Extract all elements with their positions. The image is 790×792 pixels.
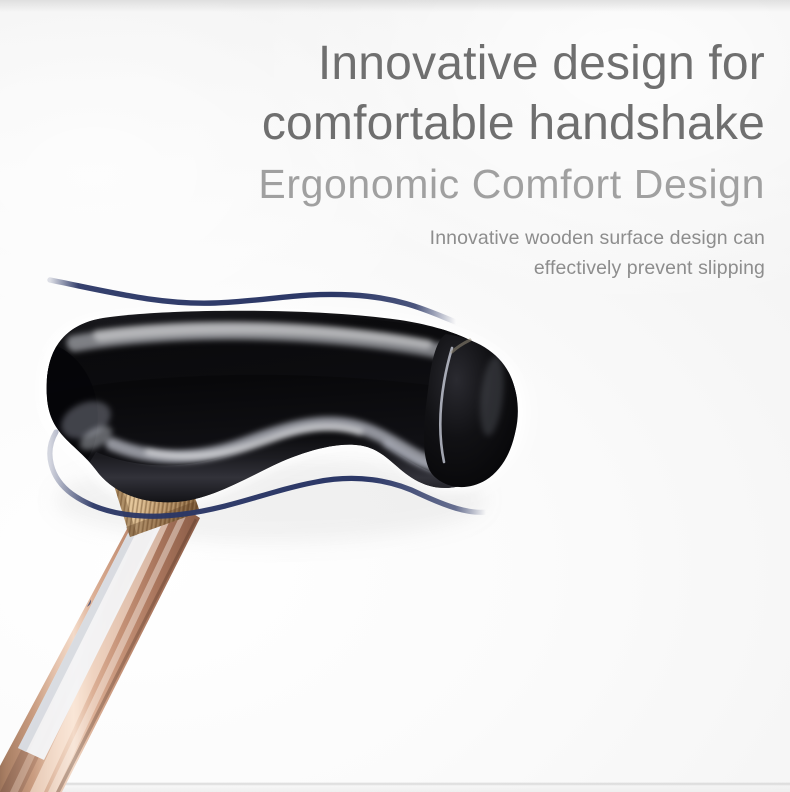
subheading: Ergonomic Comfort Design (145, 156, 765, 212)
product-banner: Innovative design for comfortable handsh… (0, 0, 790, 792)
tagline-block: Innovative wooden surface design can eff… (145, 223, 765, 283)
headline-block: Innovative design for comfortable handsh… (145, 34, 765, 283)
headline-line-1: Innovative design for (145, 34, 765, 94)
tagline-line-2: effectively prevent slipping (145, 253, 765, 283)
tagline-line-1: Innovative wooden surface design can (145, 223, 765, 253)
headline-line-2: comfortable handshake (145, 94, 765, 154)
cane-shaft-group (0, 486, 201, 792)
